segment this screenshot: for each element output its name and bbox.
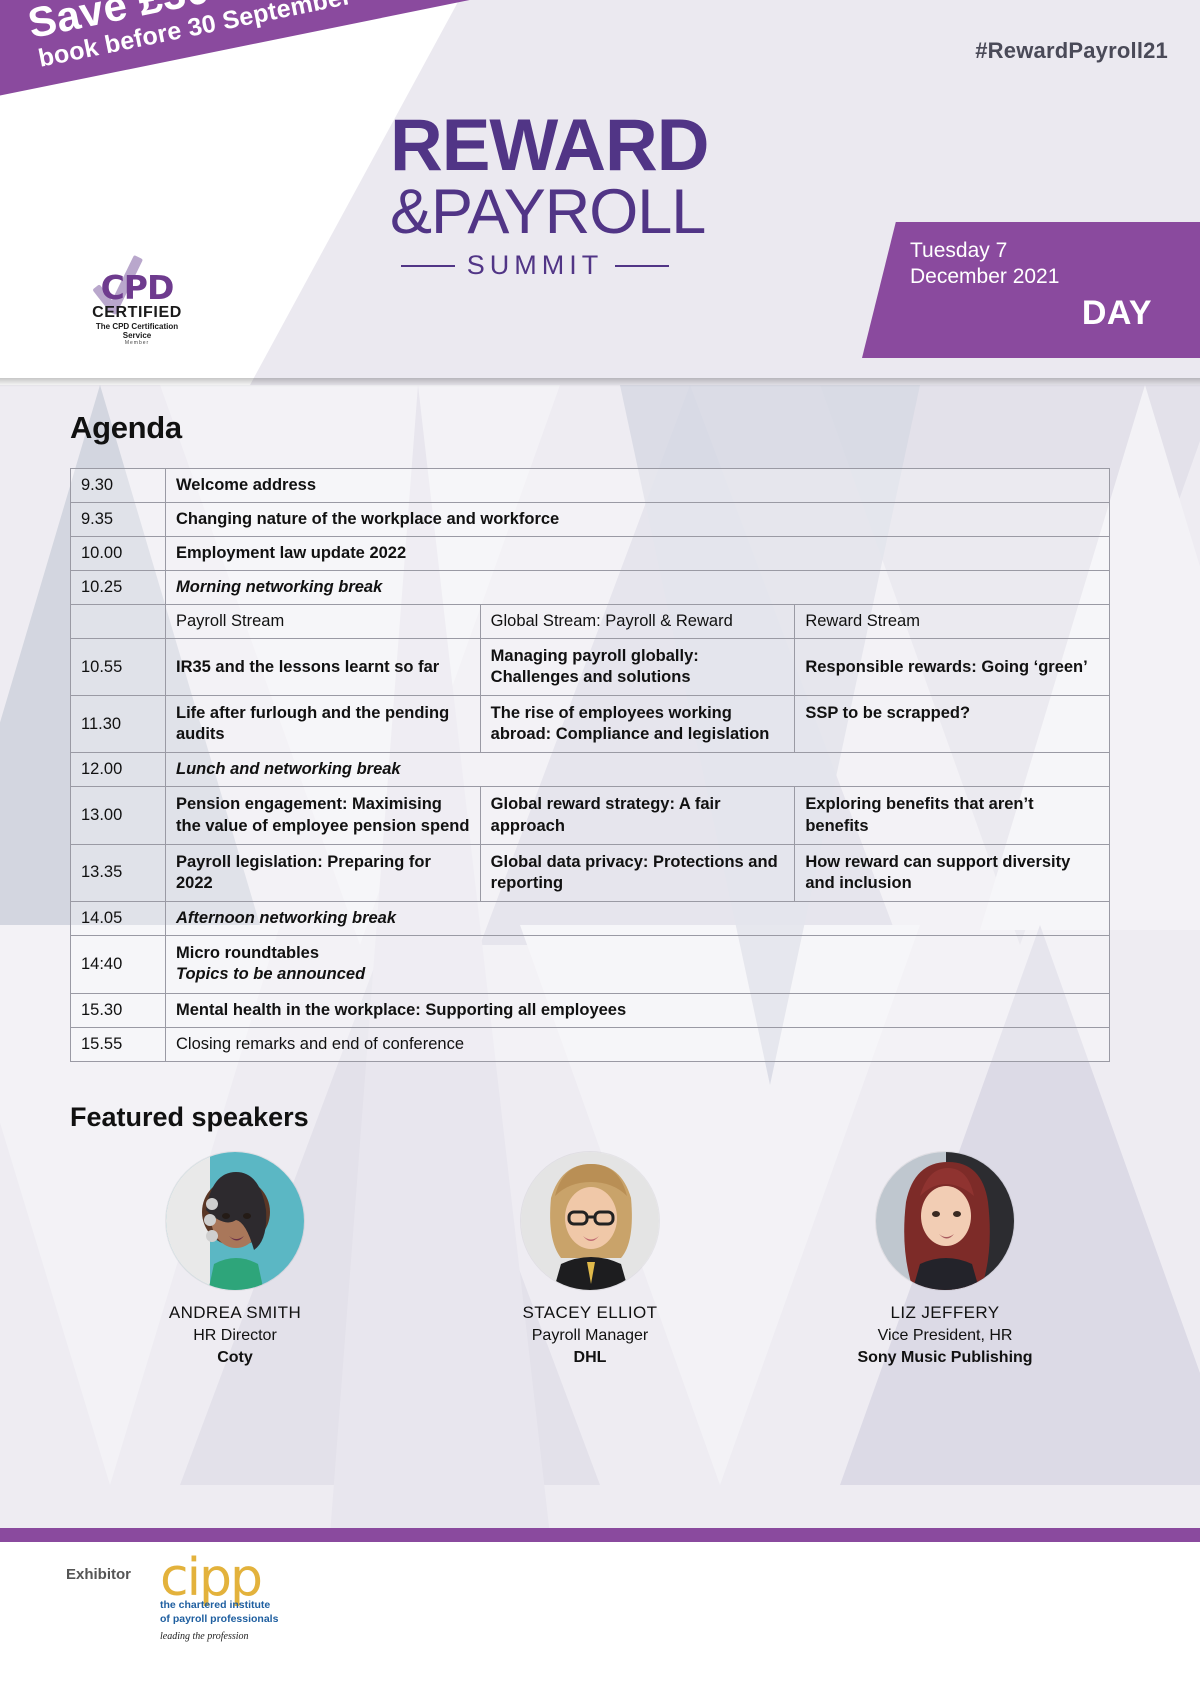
agenda-time: 15.30 bbox=[71, 993, 166, 1027]
agenda-session-global: The rise of employees working abroad: Co… bbox=[480, 696, 795, 753]
agenda-time bbox=[71, 605, 166, 639]
speaker-org: Sony Music Publishing bbox=[780, 1349, 1110, 1367]
stream-header-payroll: Payroll Stream bbox=[166, 605, 481, 639]
table-row: 15.55 Closing remarks and end of confere… bbox=[71, 1027, 1110, 1061]
logo-word-payroll: &PAYROLL bbox=[390, 181, 680, 244]
event-hashtag: #RewardPayroll21 bbox=[975, 38, 1168, 64]
agenda-session-reward: Exploring benefits that aren’t benefits bbox=[795, 787, 1110, 844]
agenda-session: Welcome address bbox=[166, 469, 1110, 503]
agenda-session-line2: Topics to be announced bbox=[176, 964, 1099, 985]
cipp-logo-word: cipp bbox=[160, 1554, 340, 1603]
exhibitor-label: Exhibitor bbox=[66, 1566, 131, 1583]
event-date: Tuesday 7 December 2021 bbox=[910, 238, 1059, 289]
agenda-time: 14:40 bbox=[71, 935, 166, 993]
speaker-org: Coty bbox=[70, 1349, 400, 1367]
table-row: 10.55 IR35 and the lessons learnt so far… bbox=[71, 639, 1110, 696]
cipp-logo-sub: the chartered institute of payroll profe… bbox=[160, 1599, 340, 1625]
cipp-logo-sub-line1: the chartered institute bbox=[160, 1599, 340, 1612]
agenda-break: Afternoon networking break bbox=[166, 901, 1110, 935]
table-row: 13.35 Payroll legislation: Preparing for… bbox=[71, 844, 1110, 901]
agenda-table-body: 9.30 Welcome address 9.35 Changing natur… bbox=[71, 469, 1110, 1062]
logo-word-reward: REWARD bbox=[390, 112, 680, 179]
speaker-name: LIZ JEFFERY bbox=[780, 1303, 1110, 1323]
agenda-session: Employment law update 2022 bbox=[166, 537, 1110, 571]
agenda-time: 10.55 bbox=[71, 639, 166, 696]
agenda-session: Closing remarks and end of conference bbox=[166, 1027, 1110, 1061]
table-row: 9.30 Welcome address bbox=[71, 469, 1110, 503]
stream-header-reward: Reward Stream bbox=[795, 605, 1110, 639]
agenda-time: 14.05 bbox=[71, 901, 166, 935]
event-logo: REWARD &PAYROLL SUMMIT bbox=[390, 112, 680, 281]
poster-header: #RewardPayroll21 Save £300 book before 3… bbox=[0, 0, 1200, 385]
logo-rule-left bbox=[401, 265, 455, 267]
speaker-org: DHL bbox=[425, 1349, 755, 1367]
agenda-session-global: Global data privacy: Protections and rep… bbox=[480, 844, 795, 901]
agenda-session-reward: SSP to be scrapped? bbox=[795, 696, 1110, 753]
agenda-break: Lunch and networking break bbox=[166, 753, 1110, 787]
table-row: 15.30 Mental health in the workplace: Su… bbox=[71, 993, 1110, 1027]
agenda-session-payroll: Pension engagement: Maximising the value… bbox=[166, 787, 481, 844]
logo-summit-row: SUMMIT bbox=[390, 250, 680, 281]
table-row: 14:40 Micro roundtables Topics to be ann… bbox=[71, 935, 1110, 993]
poster-page: #RewardPayroll21 Save £300 book before 3… bbox=[0, 0, 1200, 1693]
agenda-time: 9.35 bbox=[71, 503, 166, 537]
speaker-role: HR Director bbox=[70, 1327, 400, 1345]
agenda-session-reward: Responsible rewards: Going ‘green’ bbox=[795, 639, 1110, 696]
agenda-session-global: Global reward strategy: A fair approach bbox=[480, 787, 795, 844]
agenda-time: 9.30 bbox=[71, 469, 166, 503]
agenda-time: 10.00 bbox=[71, 537, 166, 571]
table-row-stream-headers: Payroll Stream Global Stream: Payroll & … bbox=[71, 605, 1110, 639]
speaker-card: LIZ JEFFERY Vice President, HR Sony Musi… bbox=[780, 1151, 1110, 1367]
poster-footer: Exhibitor cipp the chartered institute o… bbox=[0, 1542, 1200, 1693]
event-date-line1: Tuesday 7 bbox=[910, 238, 1059, 264]
table-row: 13.00 Pension engagement: Maximising the… bbox=[71, 787, 1110, 844]
table-row: 11.30 Life after furlough and the pendin… bbox=[71, 696, 1110, 753]
agenda-time: 12.00 bbox=[71, 753, 166, 787]
agenda-session-payroll: Payroll legislation: Preparing for 2022 bbox=[166, 844, 481, 901]
cpd-logo-member: Member bbox=[62, 340, 212, 346]
table-row: 9.35 Changing nature of the workplace an… bbox=[71, 503, 1110, 537]
cipp-logo-tagline: leading the profession bbox=[160, 1631, 340, 1642]
cipp-logo-sub-line2: of payroll professionals bbox=[160, 1613, 340, 1626]
event-day-label: DAY bbox=[1082, 294, 1152, 333]
agenda-session-payroll: IR35 and the lessons learnt so far bbox=[166, 639, 481, 696]
agenda-session-payroll: Life after furlough and the pending audi… bbox=[166, 696, 481, 753]
agenda-time: 11.30 bbox=[71, 696, 166, 753]
cpd-certified-logo: CPD CERTIFIED The CPD Certification Serv… bbox=[62, 258, 212, 353]
logo-word-summit: SUMMIT bbox=[467, 250, 603, 281]
cpd-logo-subtitle: The CPD Certification Service bbox=[62, 322, 212, 340]
table-row: 10.00 Employment law update 2022 bbox=[71, 537, 1110, 571]
speaker-name: STACEY ELLIOT bbox=[425, 1303, 755, 1323]
agenda-time: 13.00 bbox=[71, 787, 166, 844]
agenda-time: 15.55 bbox=[71, 1027, 166, 1061]
agenda-time: 10.25 bbox=[71, 571, 166, 605]
speaker-card: STACEY ELLIOT Payroll Manager DHL bbox=[425, 1151, 755, 1367]
footer-accent-bar bbox=[0, 1528, 1200, 1542]
header-shadow bbox=[0, 378, 1200, 387]
poster-content: Agenda 9.30 Welcome address 9.35 Changin… bbox=[0, 385, 1200, 1367]
table-row: 14.05 Afternoon networking break bbox=[71, 901, 1110, 935]
table-row: 10.25 Morning networking break bbox=[71, 571, 1110, 605]
cpd-logo-certified: CERTIFIED bbox=[62, 304, 212, 322]
speaker-role: Vice President, HR bbox=[780, 1327, 1110, 1345]
event-date-line2: December 2021 bbox=[910, 264, 1059, 290]
speaker-card: ANDREA SMITH HR Director Coty bbox=[70, 1151, 400, 1367]
featured-speakers-list: ANDREA SMITH HR Director Coty bbox=[70, 1151, 1110, 1367]
logo-rule-right bbox=[615, 265, 669, 267]
agenda-session-line1: Micro roundtables bbox=[176, 943, 1099, 964]
agenda-time: 13.35 bbox=[71, 844, 166, 901]
agenda-session: Changing nature of the workplace and wor… bbox=[166, 503, 1110, 537]
agenda-session-global: Managing payroll globally: Challenges an… bbox=[480, 639, 795, 696]
speaker-name: ANDREA SMITH bbox=[70, 1303, 400, 1323]
cpd-logo-main: CPD bbox=[62, 268, 212, 307]
stream-header-global: Global Stream: Payroll & Reward bbox=[480, 605, 795, 639]
event-date-block: Tuesday 7 December 2021 DAY bbox=[862, 222, 1200, 358]
agenda-heading: Agenda bbox=[70, 410, 1200, 446]
featured-speakers-heading: Featured speakers bbox=[70, 1102, 1200, 1133]
table-row: 12.00 Lunch and networking break bbox=[71, 753, 1110, 787]
cipp-logo: cipp the chartered institute of payroll … bbox=[160, 1554, 340, 1642]
agenda-session-reward: How reward can support diversity and inc… bbox=[795, 844, 1110, 901]
avatar bbox=[875, 1151, 1015, 1291]
speaker-role: Payroll Manager bbox=[425, 1327, 755, 1345]
agenda-session: Micro roundtables Topics to be announced bbox=[166, 935, 1110, 993]
agenda-break: Morning networking break bbox=[166, 571, 1110, 605]
agenda-table: 9.30 Welcome address 9.35 Changing natur… bbox=[70, 468, 1110, 1062]
agenda-session: Mental health in the workplace: Supporti… bbox=[166, 993, 1110, 1027]
avatar bbox=[520, 1151, 660, 1291]
avatar bbox=[165, 1151, 305, 1291]
